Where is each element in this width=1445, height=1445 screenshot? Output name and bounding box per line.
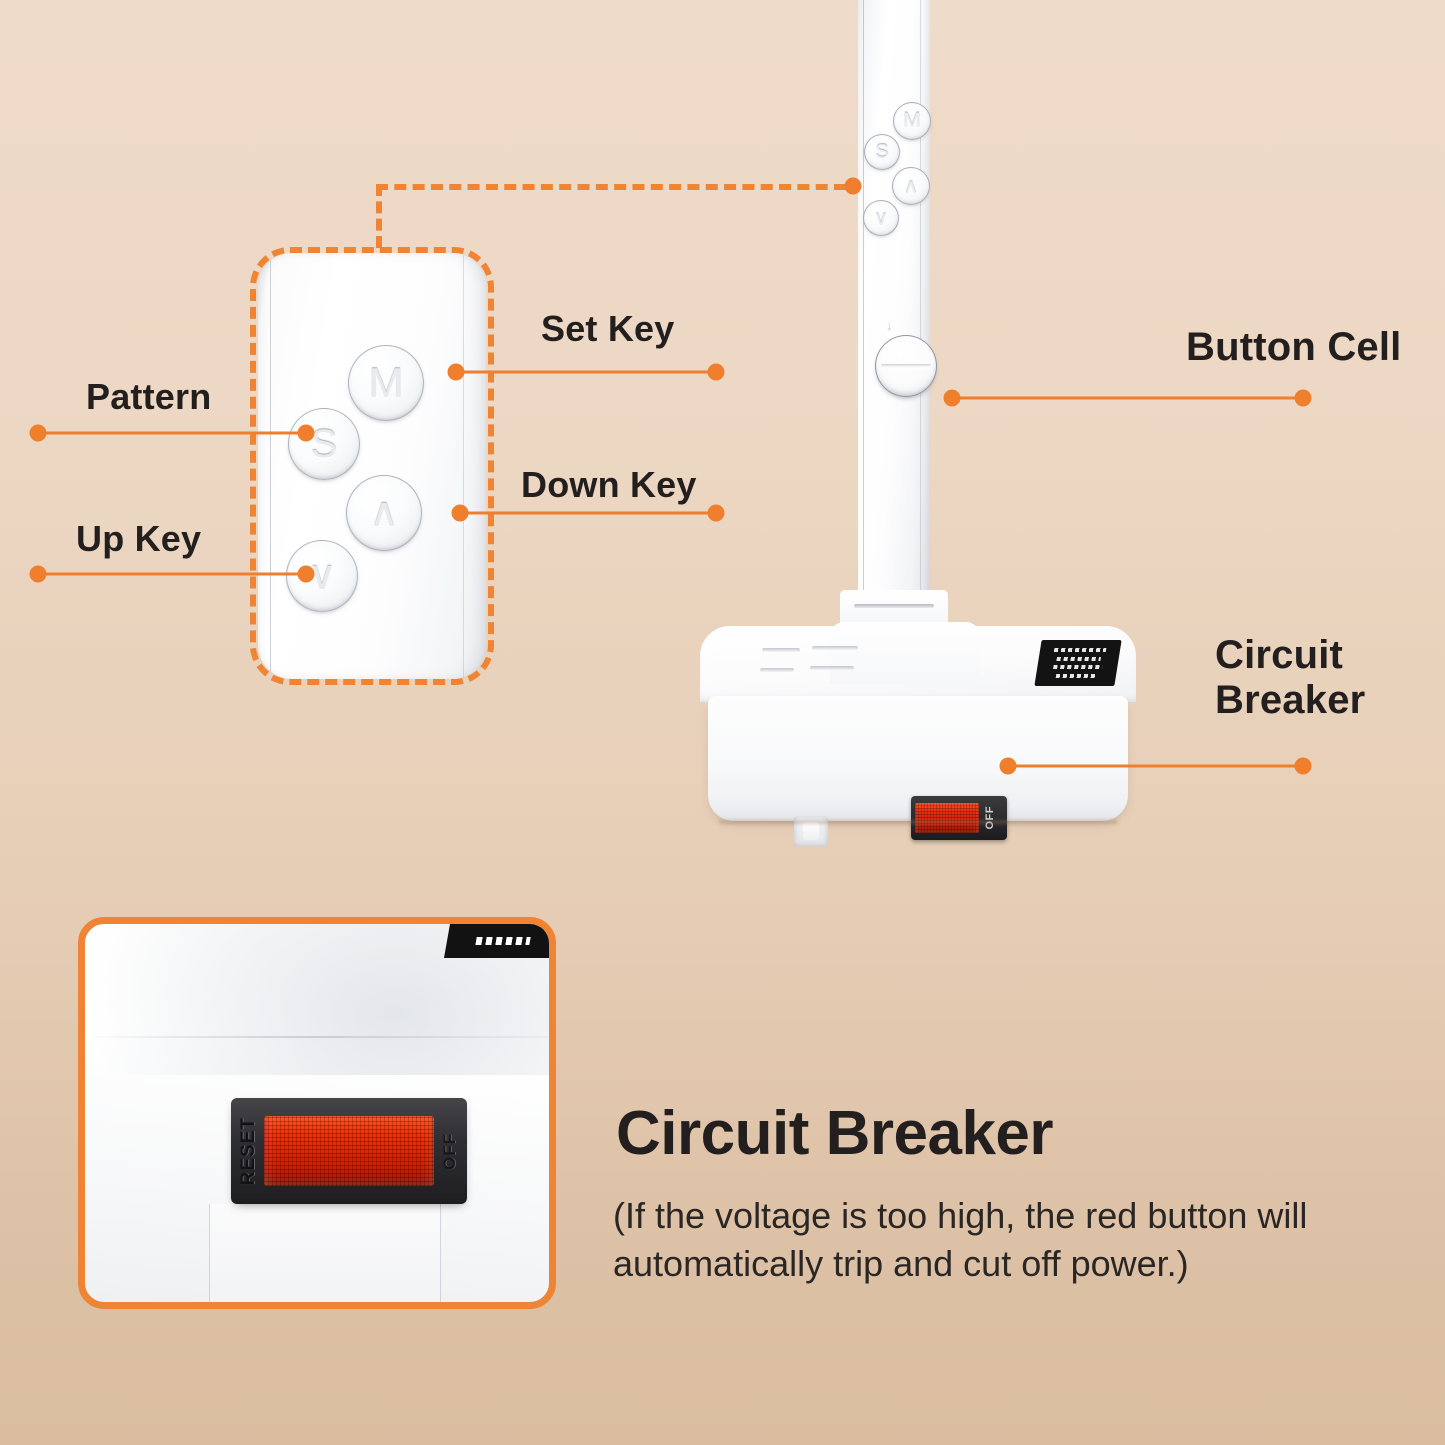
lamp-base: OFF [700,626,1136,826]
leader-dot-up-key-inner [298,566,315,583]
photo-corner-rating-label [444,924,556,958]
dashed-connector-top [376,184,846,190]
leader-dot-circuit-breaker-outer [1295,758,1312,775]
desk-lamp: M S ∧ ∨ ↓ [690,0,1150,830]
leader-line-pattern [38,432,306,435]
breaker-red-button[interactable] [915,803,979,833]
pole-key-pattern[interactable]: S [864,134,900,170]
infographic-stage: M S ∧ ∨ M S ∧ ∨ ↓ [0,0,1445,1445]
base-neck-pad [830,622,980,684]
leader-dot-up-key-outer [30,566,47,583]
base-front-face: OFF [708,696,1128,821]
breaker-off-label: OFF [984,806,996,830]
leader-dot-pattern-outer [30,425,47,442]
key-down[interactable]: ∧ [346,475,422,551]
base-top-surface [700,626,1136,702]
leader-line-button-cell [952,397,1303,400]
leader-dot-set-key-inner [448,364,465,381]
leader-dot-circuit-breaker-inner [1000,758,1017,775]
leader-dot-down-key-outer [708,505,725,522]
key-pattern[interactable]: S [288,408,360,480]
callout-label-set-key: Set Key [541,309,674,350]
pole-key-down[interactable]: ∧ [892,167,930,205]
circuit-breaker-switch[interactable]: OFF [911,796,1007,840]
dashed-connector-vertical [376,184,382,248]
leader-dot-set-key-outer [708,364,725,381]
lamp-pole: M S ∧ ∨ ↓ [858,0,930,610]
circuit-breaker-heading: Circuit Breaker [616,1098,1053,1169]
rating-label-line [1053,665,1103,669]
leader-dot-down-key-inner [452,505,469,522]
circuit-breaker-note: (If the voltage is too high, the red but… [613,1192,1403,1288]
photo-seam-line [85,1036,549,1038]
breaker-reset-label: RESET [238,1117,260,1185]
rating-label [1034,640,1121,686]
circuit-breaker-closeup[interactable]: RESET OFF [231,1098,467,1204]
leader-dot-button-cell-outer [1295,390,1312,407]
leader-line-set-key [456,371,716,374]
hinge-slot-upper [854,604,934,608]
key-set[interactable]: M [348,345,424,421]
callout-label-button-cell: Button Cell [1186,325,1402,370]
rating-label-line [1055,674,1096,678]
pole-key-set[interactable]: M [893,102,931,140]
dashed-connector-endpoint-dot [845,178,862,195]
leader-line-up-key [38,573,306,576]
base-vent-4 [810,666,854,670]
power-port [794,816,828,846]
circuit-breaker-photo-card: RESET OFF [78,917,556,1309]
breaker-red-button-closeup[interactable] [264,1116,434,1186]
rating-label-line [475,937,530,945]
callout-label-pattern: Pattern [86,377,211,418]
base-vent-1 [762,648,800,652]
base-vent-3 [760,668,794,672]
photo-base-plate [209,1204,441,1302]
remote-panel-face: M S ∧ ∨ [258,253,486,679]
base-vent-2 [812,646,858,650]
callout-label-circuit-breaker: Circuit Breaker [1215,633,1365,723]
leader-dot-button-cell-inner [944,390,961,407]
breaker-off-label-closeup: OFF [440,1133,460,1170]
callout-label-down-key: Down Key [521,465,697,506]
pole-key-up[interactable]: ∨ [863,200,899,236]
rating-label-line [1057,657,1101,661]
callout-label-up-key: Up Key [76,519,201,560]
leader-line-circuit-breaker [1008,765,1303,768]
leader-dot-pattern-inner [298,425,315,442]
button-cell-cap[interactable] [875,335,937,397]
leader-line-down-key [460,512,716,515]
rating-label-line [1054,648,1106,652]
button-cell-marker: ↓ [886,318,893,333]
